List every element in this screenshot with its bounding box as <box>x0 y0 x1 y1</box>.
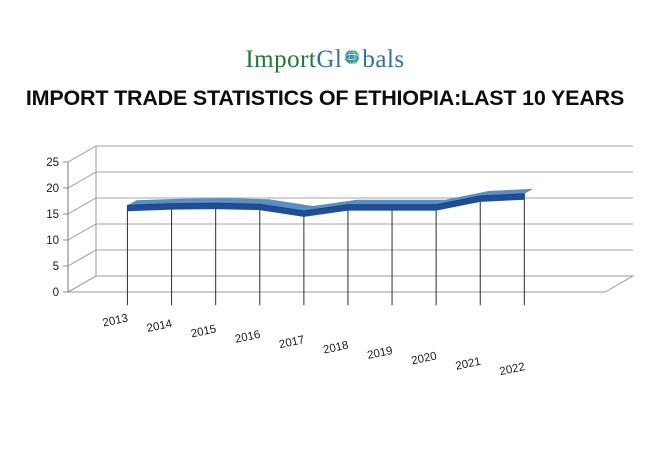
x-axis-tick-label: 2015 <box>190 323 218 340</box>
x-axis-tick-label: 2014 <box>146 318 174 335</box>
x-axis-tick-label: 2017 <box>278 334 306 351</box>
brand-logo: ImportGl bals <box>0 47 650 72</box>
y-axis-tick-label: 5 <box>53 261 59 273</box>
brand-word-globals-prefix: Gl <box>316 47 342 72</box>
brand-word-globals-suffix: bals <box>362 47 404 72</box>
x-axis-tick-label: 2022 <box>499 361 527 378</box>
chart-data-series <box>127 189 533 217</box>
chart-floor-plane <box>68 276 633 292</box>
y-axis-tick-label: 15 <box>46 209 59 221</box>
y-axis-tick-label: 10 <box>46 235 59 247</box>
y-axis-tick-label: 20 <box>46 183 59 195</box>
x-axis-tick-label: 2020 <box>410 350 438 367</box>
chart-gridlines <box>68 146 633 292</box>
import-trade-line-chart: 0510152025 20132014201520162017201820192… <box>0 140 650 390</box>
chart-y-axis: 0510152025 <box>46 157 68 299</box>
x-axis-tick-label: 2013 <box>102 313 130 330</box>
y-axis-tick-label: 0 <box>53 287 59 299</box>
y-axis-tick-label: 25 <box>46 157 59 169</box>
x-axis-tick-label: 2019 <box>366 345 394 362</box>
x-axis-tick-label: 2018 <box>322 340 350 357</box>
x-axis-tick-label: 2021 <box>454 356 482 373</box>
chart-svg: 0510152025 20132014201520162017201820192… <box>0 140 650 390</box>
chart-x-axis: 2013201420152016201720182019202020212022 <box>102 313 526 379</box>
brand-word-import: Import <box>245 47 316 72</box>
page-title: IMPORT TRADE STATISTICS OF ETHIOPIA:LAST… <box>0 86 650 111</box>
x-axis-tick-label: 2016 <box>234 329 262 346</box>
globe-icon <box>342 47 362 67</box>
